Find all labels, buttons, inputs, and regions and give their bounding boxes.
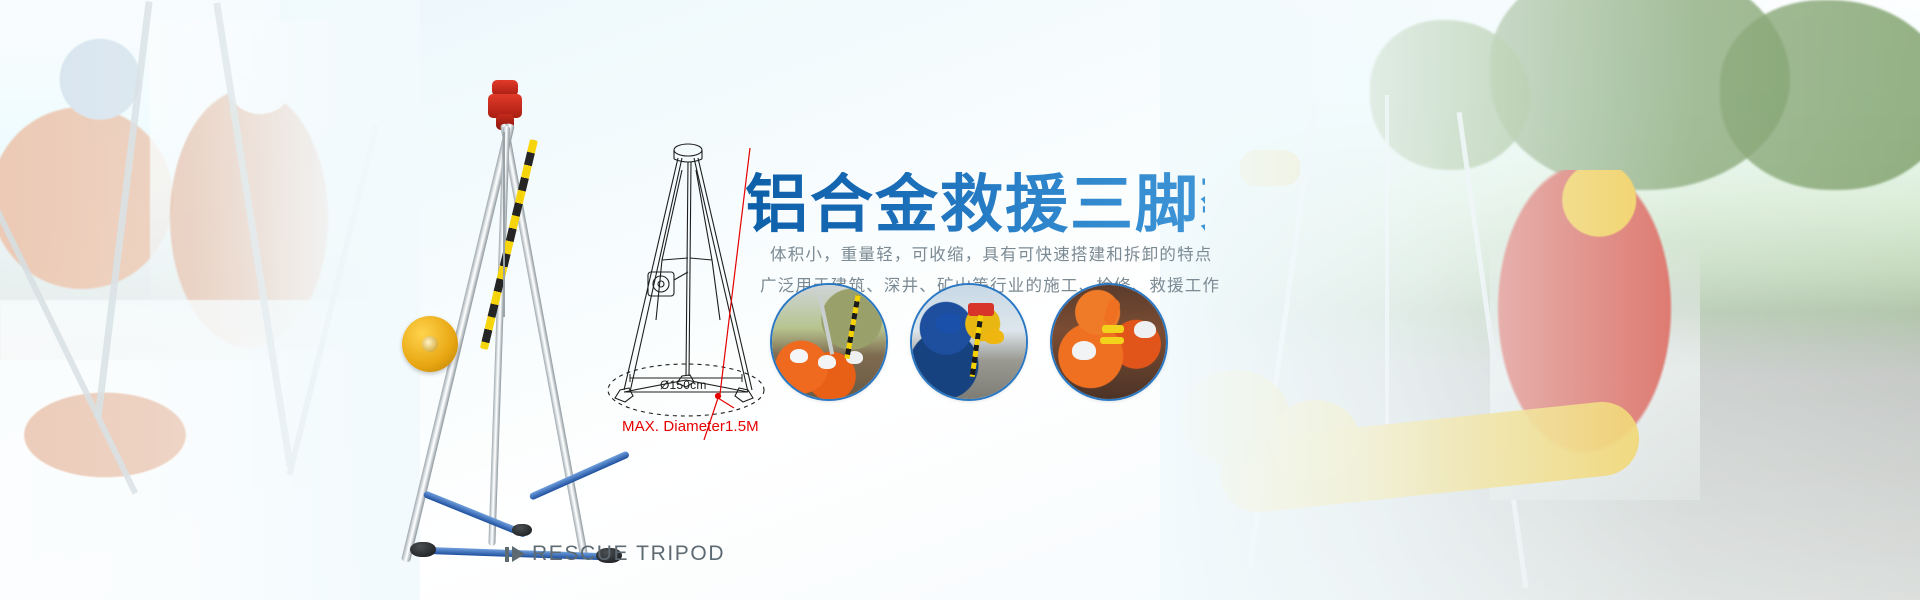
tripod-foot-left xyxy=(410,542,436,557)
collage-tripod-leg-2 xyxy=(213,2,293,467)
collage-outdoor-background xyxy=(1160,0,1920,600)
thumb2-tripod-head xyxy=(968,303,994,316)
collage-hose-reel xyxy=(1180,370,1290,465)
product-banner: Ø150cm MAX. Diameter1.5M RESCUE TRIPOD 铝… xyxy=(0,0,1920,600)
collage-right-rope xyxy=(1385,95,1389,425)
thumbnail-worker-inspecting-tripod[interactable] xyxy=(910,283,1028,401)
diameter-dimension-label: Ø150cm xyxy=(660,378,707,392)
collage-right-leg-2 xyxy=(1457,112,1529,588)
thumb3-helmet-white xyxy=(1072,341,1096,360)
collage-tree-3 xyxy=(1370,20,1530,170)
collage-photo-rescuer-left xyxy=(0,0,280,360)
application-thumbnail-row xyxy=(770,283,1170,403)
thumb2-helmet-blue xyxy=(936,313,962,333)
collage-tree-2 xyxy=(1720,0,1920,190)
tripod-winch-cable xyxy=(503,132,505,317)
thumb1-helmet-white xyxy=(790,349,808,363)
thumbnail-image-2 xyxy=(912,285,1026,399)
thumb3-uniform-stripe xyxy=(1102,325,1124,333)
left-photo-collage xyxy=(0,0,420,600)
tripod-foot-rear xyxy=(512,524,532,536)
banner-copy-block: 铝合金救援三脚架 铝合金救援三脚架 体积小，重量轻，可收缩，具有可快速搭建和拆卸… xyxy=(745,130,1205,281)
play-marker-icon xyxy=(505,546,525,562)
thumb3-uniform-stripe-2 xyxy=(1100,337,1124,344)
thumb2-helmet-yellow xyxy=(984,329,1004,344)
tripod-winch xyxy=(402,316,458,372)
thumbnail-confined-space-rescue-drill[interactable] xyxy=(1050,283,1168,401)
collage-tripod-leg-3 xyxy=(0,195,138,494)
page-title: 铝合金救援三脚架 xyxy=(745,172,1205,238)
collage-tripod-leg-1 xyxy=(94,1,152,419)
collage-yellow-hose xyxy=(1217,398,1642,515)
collage-tree-1 xyxy=(1490,0,1790,190)
collage-rescuer-yellow-helmet xyxy=(1490,170,1700,500)
thumb1-helmet-white-2 xyxy=(818,355,836,369)
collage-hose-reel-2 xyxy=(1270,400,1360,480)
base-bar-right xyxy=(529,450,631,500)
collage-photo-rescuer-center xyxy=(150,20,370,350)
rescue-tripod-label-text: RESCUE TRIPOD xyxy=(532,542,725,566)
thumbnail-rescue-team-manhole-field[interactable] xyxy=(770,283,888,401)
thumb3-helmet-white-2 xyxy=(1134,321,1156,338)
subtitle-line-1: 体积小，重量轻，可收缩，具有可快速搭建和拆卸的特点 xyxy=(770,247,1213,264)
right-photo-collage xyxy=(1160,0,1920,600)
collage-tripod-leg-4 xyxy=(287,125,380,476)
rescue-tripod-label: RESCUE TRIPOD xyxy=(505,542,725,566)
max-diameter-annotation: MAX. Diameter1.5M xyxy=(622,418,759,435)
collage-photo-ground-scene xyxy=(0,300,420,600)
